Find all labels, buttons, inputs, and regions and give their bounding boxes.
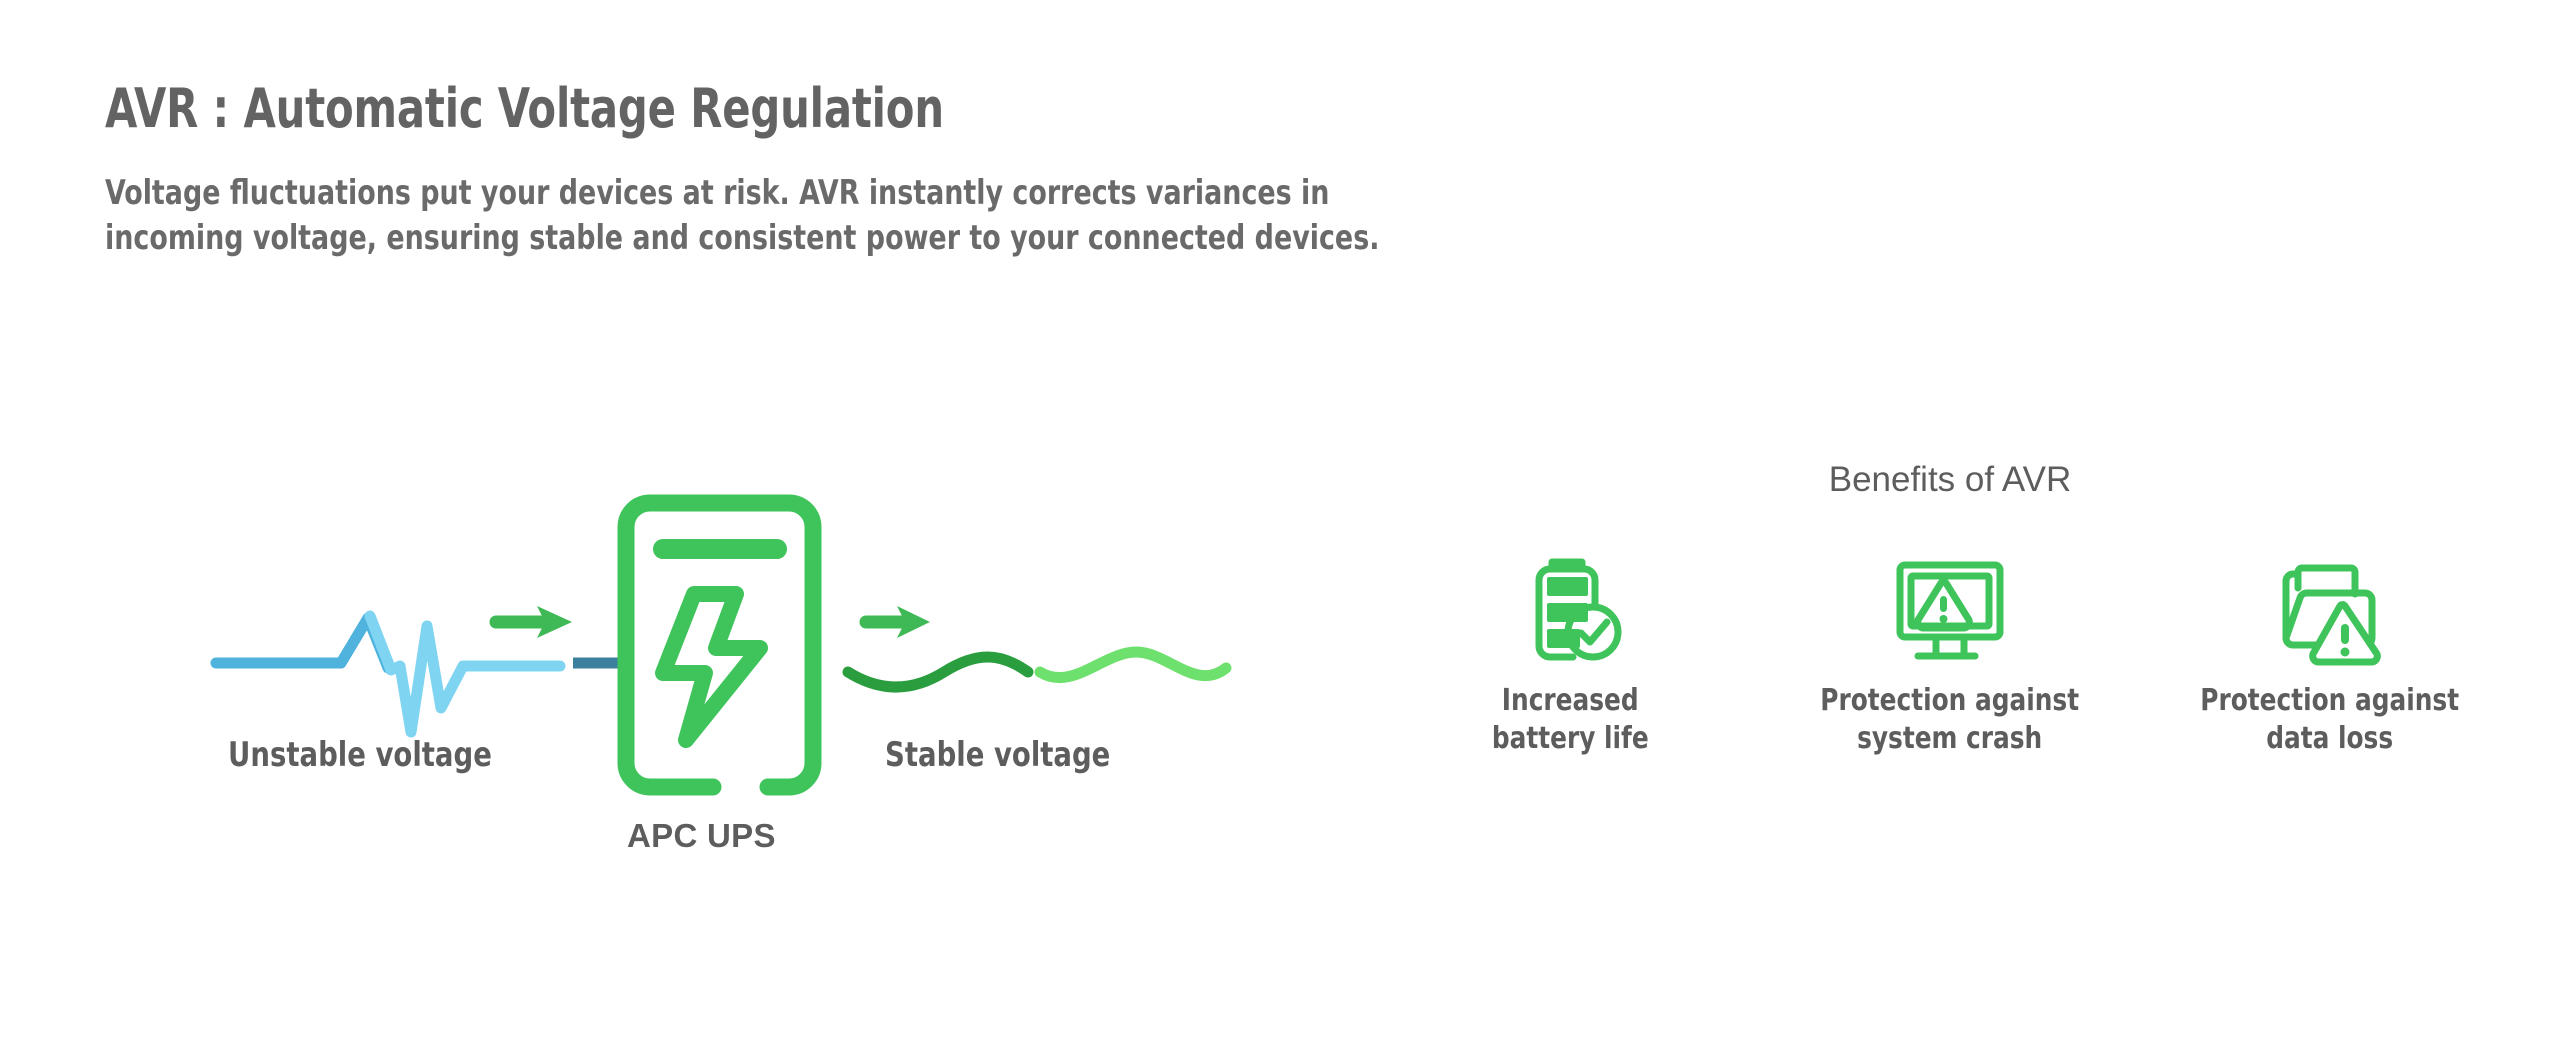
benefits-title: Benefits of AVR: [1400, 460, 2500, 500]
page-subtitle-line-1: Voltage fluctuations put your devices at…: [105, 171, 1645, 216]
benefit-icon-wrap: [1511, 550, 1629, 668]
benefit-label-monitor: Protection against system crash: [1821, 682, 2080, 759]
header-block: AVR : Automatic Voltage Regulation Volta…: [105, 82, 2105, 261]
arrow-right-icon-out: [866, 606, 930, 638]
stable-voltage-label: Stable voltage: [885, 735, 1110, 775]
page-subtitle-line-2: incoming voltage, ensuring stable and co…: [105, 216, 1645, 261]
apc-ups-label: APC UPS: [627, 817, 776, 855]
benefit-label-battery: Increased battery life: [1492, 682, 1649, 759]
arrow-right-icon-in: [496, 606, 572, 638]
avr-flow-diagram: Unstable voltage Stable voltage APC UPS: [0, 440, 1330, 940]
warning-triangle-icon: [2313, 605, 2378, 662]
battery-check-icon: [1511, 550, 1629, 668]
stable-waveform-icon: [848, 652, 1226, 687]
page-subtitle: Voltage fluctuations put your devices at…: [105, 136, 1645, 261]
benefit-item-monitor: Protection against system crash: [1780, 550, 2120, 759]
benefit-item-folder: Protection against data loss: [2160, 550, 2500, 759]
benefit-item-battery: Increased battery life: [1400, 550, 1740, 759]
monitor-warning-icon: [1887, 550, 2013, 668]
benefits-list: Increased battery life: [1400, 550, 2500, 759]
ups-device-icon: [626, 503, 813, 787]
page-title: AVR : Automatic Voltage Regulation: [105, 82, 1825, 136]
benefit-label-folder: Protection against data loss: [2201, 682, 2460, 759]
flow-diagram-graphics: [0, 440, 1330, 880]
unstable-waveform-icon: [216, 616, 625, 732]
unstable-voltage-label: Unstable voltage: [228, 735, 492, 775]
benefit-icon-wrap: [1887, 550, 2013, 668]
benefit-icon-wrap: [2267, 550, 2393, 668]
folder-warning-icon: [2267, 550, 2393, 668]
